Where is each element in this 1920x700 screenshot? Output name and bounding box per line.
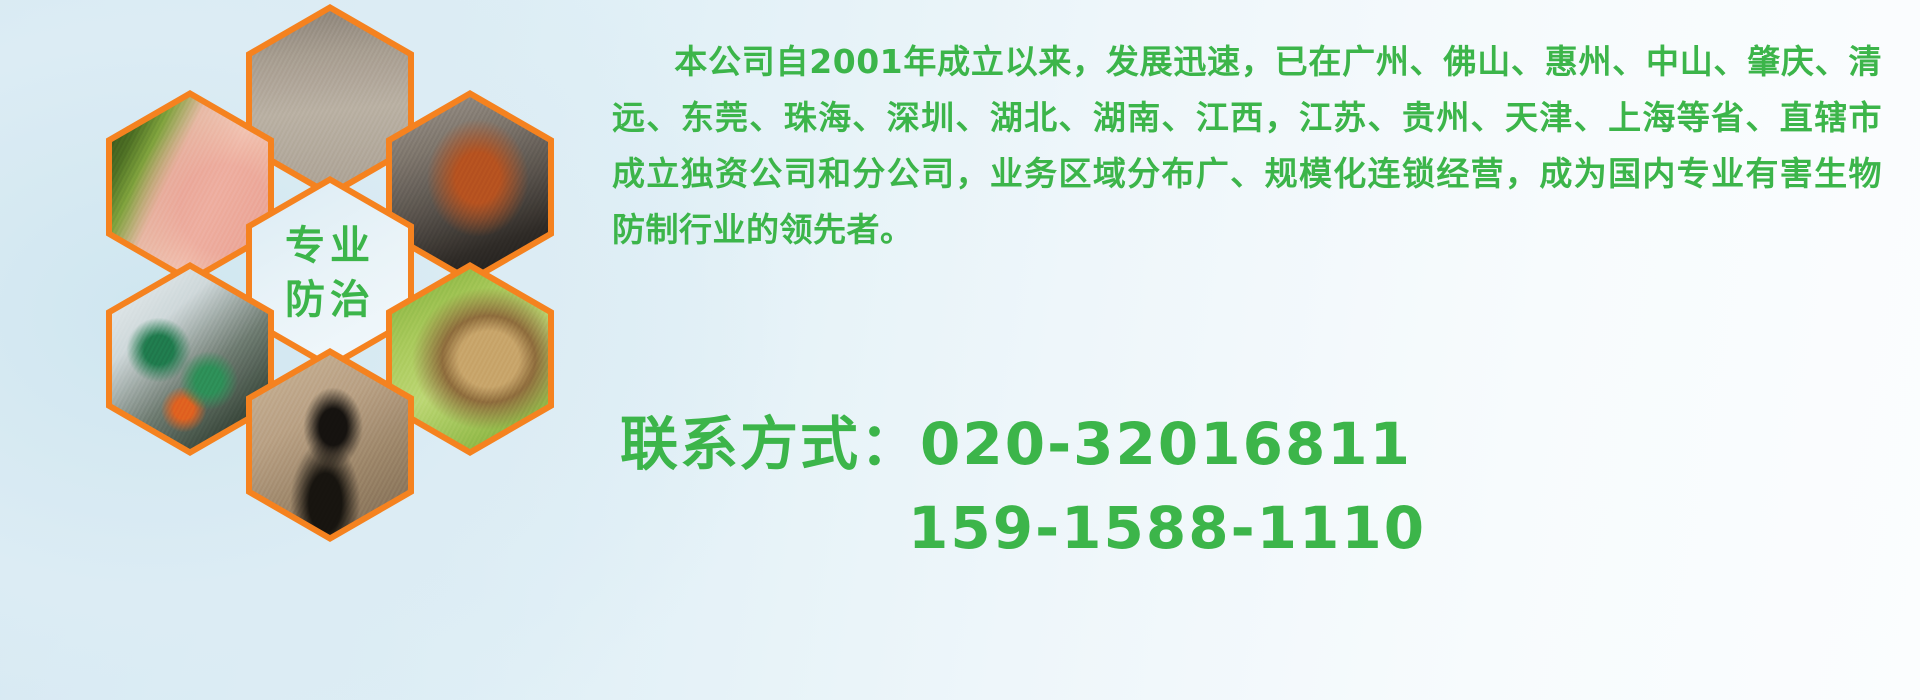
- contact-phone-landline[interactable]: 020-32016811: [920, 410, 1412, 478]
- contact-label: 联系方式：: [620, 410, 920, 478]
- contact-line-secondary: 159-1588-1110: [620, 486, 1880, 570]
- slogan-line-2: 防治: [285, 279, 375, 321]
- contact-line-primary: 联系方式：020-32016811: [620, 402, 1880, 486]
- slogan-text: 专业 防治: [285, 225, 375, 321]
- copy-block: 本公司自2001年成立以来，发展迅速，已在广州、佛山、惠州、中山、肇庆、清远、东…: [612, 34, 1882, 258]
- rats-photo-texture: [252, 11, 408, 191]
- cockroach-photo-texture: [392, 97, 548, 277]
- ant-photo-texture: [252, 355, 408, 535]
- hexagon-photo-collage: 专业 防治: [78, 0, 598, 570]
- promo-banner: 专业 防治 本公司自2001年成立以来，发展迅速，: [0, 0, 1920, 700]
- company-intro-paragraph: 本公司自2001年成立以来，发展迅速，已在广州、佛山、惠州、中山、肇庆、清远、东…: [612, 34, 1882, 258]
- stink-bug-photo-texture: [392, 269, 548, 449]
- flies-photo-texture: [112, 269, 268, 449]
- contact-block: 联系方式：020-32016811 159-1588-1110: [620, 402, 1880, 570]
- slogan-line-1: 专业: [285, 225, 375, 267]
- contact-phone-mobile[interactable]: 159-1588-1110: [908, 494, 1426, 562]
- mosquito-photo-texture: [112, 97, 268, 277]
